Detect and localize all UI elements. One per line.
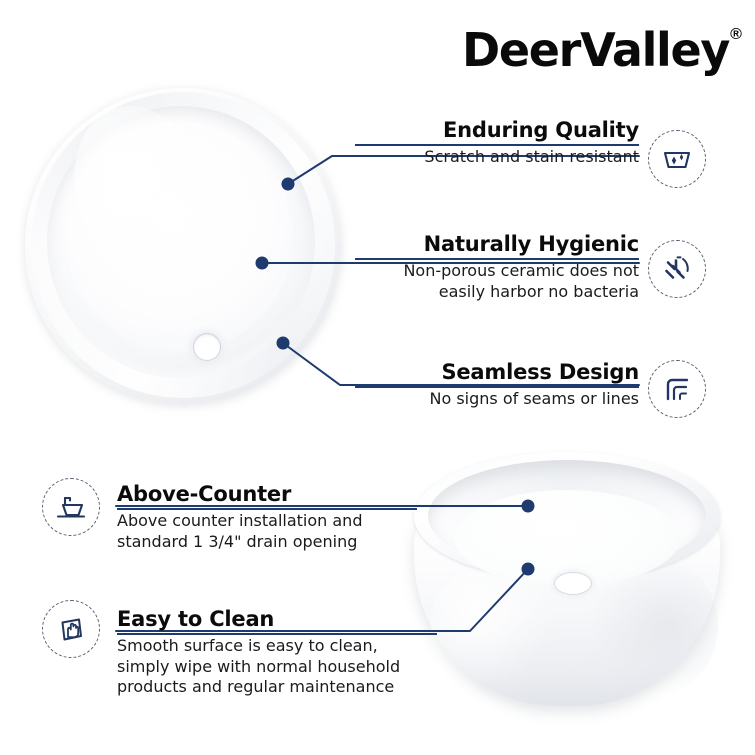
feature-naturally-hygienic: Naturally Hygienic Non-porous ceramic do…: [355, 232, 639, 302]
feature-divider: [355, 144, 639, 146]
sink-drain-hole: [193, 333, 221, 361]
feature-enduring-quality: Enduring Quality Scratch and stain resis…: [355, 118, 639, 168]
sink-top-view-image: [25, 88, 345, 406]
feature-description-line-1: No signs of seams or lines: [355, 389, 639, 410]
nested-corners-icon: [648, 360, 706, 418]
feature-description-line-1: Above counter installation and: [117, 511, 417, 532]
registered-trademark-symbol: ®: [730, 26, 742, 44]
product-infographic: DeerValley ®: [0, 0, 755, 755]
feature-description-line-2: easily harbor no bacteria: [355, 282, 639, 303]
feature-description-line-2: simply wipe with normal household: [117, 657, 437, 678]
feature-description-line-3: products and regular maintenance: [117, 677, 437, 698]
feature-title: Seamless Design: [355, 360, 639, 384]
sink-drain-hole: [554, 572, 592, 595]
feature-above-counter: Above-Counter Above counter installation…: [117, 482, 417, 552]
feature-divider: [355, 258, 639, 260]
sink-angled-view-image: [408, 446, 730, 718]
feature-title: Naturally Hygienic: [355, 232, 639, 256]
sparkle-basin-icon: [648, 130, 706, 188]
feature-description-line-1: Smooth surface is easy to clean,: [117, 636, 437, 657]
brand-name: DeerValley: [462, 24, 729, 76]
feature-title: Enduring Quality: [355, 118, 639, 142]
brand-logo: DeerValley ®: [462, 24, 727, 80]
feature-divider: [355, 386, 639, 388]
feature-divider: [117, 633, 437, 635]
hand-wipe-icon: [42, 600, 100, 658]
sink-body-highlight: [430, 566, 550, 686]
feature-divider: [117, 508, 417, 510]
feature-description-line-1: Non-porous ceramic does not: [355, 261, 639, 282]
feature-description-line-1: Scratch and stain resistant: [355, 147, 639, 168]
feature-title: Easy to Clean: [117, 607, 437, 631]
countertop-sink-icon: [42, 478, 100, 536]
bacteria-icon: [648, 240, 706, 298]
feature-easy-to-clean: Easy to Clean Smooth surface is easy to …: [117, 607, 437, 698]
feature-description-line-2: standard 1 3/4" drain opening: [117, 532, 417, 553]
feature-title: Above-Counter: [117, 482, 417, 506]
feature-seamless-design: Seamless Design No signs of seams or lin…: [355, 360, 639, 410]
